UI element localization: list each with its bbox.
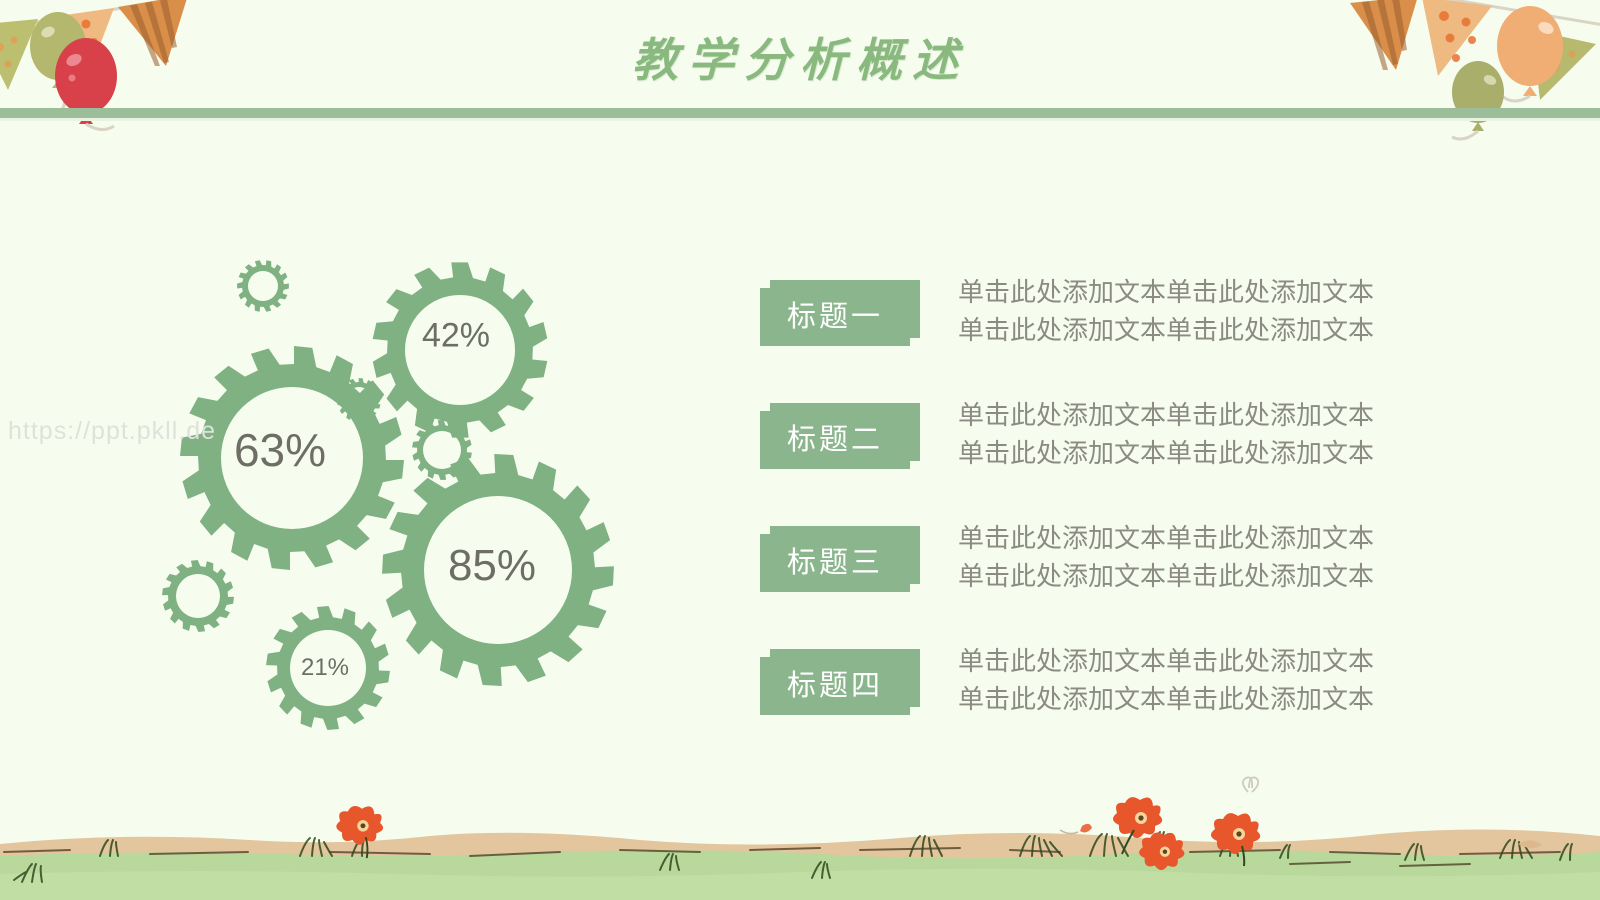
header-band: 教学分析概述	[0, 0, 1600, 112]
row-text-3: 单击此处添加文本单击此处添加文本 单击此处添加文本单击此处添加文本	[958, 520, 1398, 596]
row-text-line: 单击此处添加文本单击此处添加文本	[958, 643, 1398, 681]
slide-root: 教学分析概述 https://ppt.pkll.de 63% 42% 85% 2…	[0, 0, 1600, 900]
header-divider	[0, 108, 1600, 118]
row-text-line: 单击此处添加文本单击此处添加文本	[958, 397, 1398, 435]
row-text-line: 单击此处添加文本单击此处添加文本	[958, 681, 1398, 719]
row-text-line: 单击此处添加文本单击此处添加文本	[958, 558, 1398, 596]
badge-label: 标题四	[760, 657, 910, 715]
row-text-line: 单击此处添加文本单击此处添加文本	[958, 312, 1398, 350]
list-item[interactable]: 标题一 单击此处添加文本单击此处添加文本 单击此处添加文本单击此处添加文本	[760, 280, 1420, 403]
row-text-1: 单击此处添加文本单击此处添加文本 单击此处添加文本单击此处添加文本	[958, 274, 1398, 350]
row-text-4: 单击此处添加文本单击此处添加文本 单击此处添加文本单击此处添加文本	[958, 643, 1398, 719]
ground-decoration	[0, 770, 1600, 900]
gear-cluster: 63% 42% 85% 21%	[120, 240, 760, 740]
badge-label: 标题二	[760, 411, 910, 469]
list-item[interactable]: 标题三 单击此处添加文本单击此处添加文本 单击此处添加文本单击此处添加文本	[760, 526, 1420, 649]
badge-3[interactable]: 标题三	[760, 526, 920, 594]
row-text-line: 单击此处添加文本单击此处添加文本	[958, 435, 1398, 473]
badge-4[interactable]: 标题四	[760, 649, 920, 717]
row-text-line: 单击此处添加文本单击此处添加文本	[958, 274, 1398, 312]
gear-shape-4	[237, 260, 289, 312]
gear-graphic	[120, 240, 760, 740]
badge-label: 标题三	[760, 534, 910, 592]
gear-label-21: 21%	[301, 654, 349, 682]
gear-label-63: 63%	[234, 423, 326, 477]
row-text-line: 单击此处添加文本单击此处添加文本	[958, 520, 1398, 558]
gear-label-85: 85%	[448, 541, 536, 591]
badge-1[interactable]: 标题一	[760, 280, 920, 348]
watermark-text: https://ppt.pkll.de	[8, 417, 216, 446]
list-item[interactable]: 标题二 单击此处添加文本单击此处添加文本 单击此处添加文本单击此处添加文本	[760, 403, 1420, 526]
list-item[interactable]: 标题四 单击此处添加文本单击此处添加文本 单击此处添加文本单击此处添加文本	[760, 649, 1420, 772]
badge-label: 标题一	[760, 288, 910, 346]
header-divider-highlight	[0, 118, 1600, 121]
content-list: 标题一 单击此处添加文本单击此处添加文本 单击此处添加文本单击此处添加文本 标题…	[760, 280, 1420, 772]
row-text-2: 单击此处添加文本单击此处添加文本 单击此处添加文本单击此处添加文本	[958, 397, 1398, 473]
page-title: 教学分析概述	[0, 24, 1600, 90]
gear-label-42: 42%	[422, 317, 490, 356]
badge-2[interactable]: 标题二	[760, 403, 920, 471]
gear-shape-7	[162, 560, 234, 632]
